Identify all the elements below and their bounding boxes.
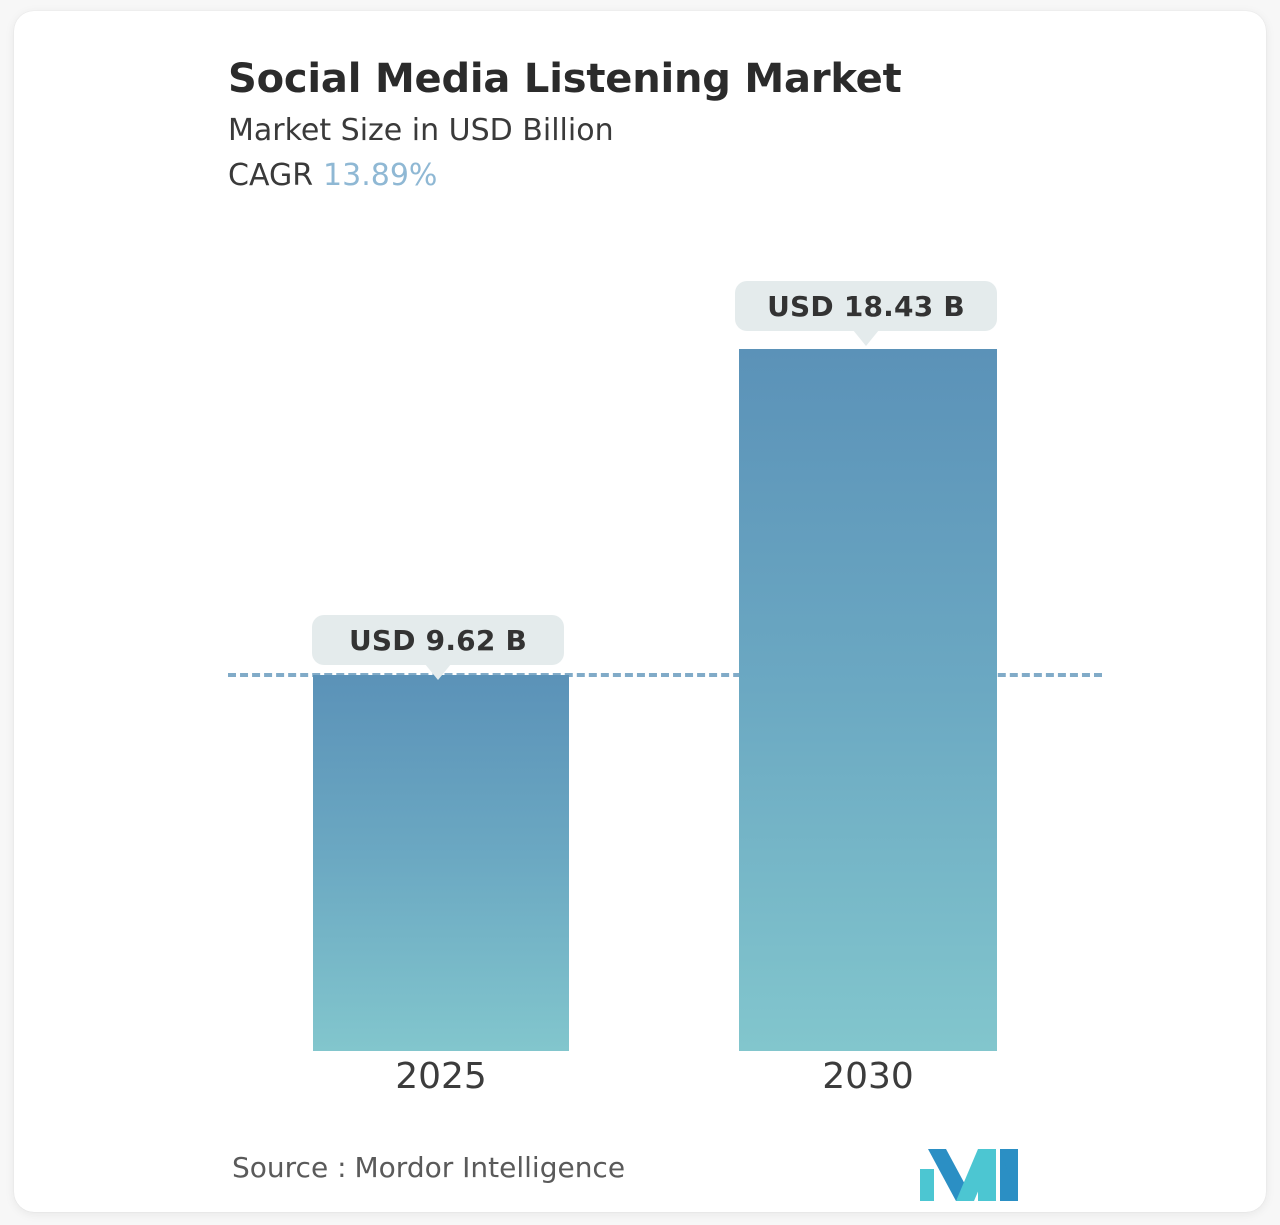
source-label: Source : xyxy=(232,1151,347,1184)
chart-card: Social Media Listening Market Market Siz… xyxy=(14,11,1266,1212)
data-label-2025-text: USD 9.62 B xyxy=(349,624,527,657)
bar-2025[interactable] xyxy=(313,675,569,1051)
bar-2030[interactable] xyxy=(739,349,997,1051)
x-axis-label-2030: 2030 xyxy=(739,1056,997,1097)
data-label-2030: USD 18.43 B xyxy=(735,281,997,331)
mordor-intelligence-logo-icon xyxy=(918,1143,1028,1209)
tooltip-pointer-icon xyxy=(425,664,451,680)
bar-chart-plot: USD 9.62 B USD 18.43 B 2025 2030 xyxy=(14,11,1266,1212)
x-axis-label-2025: 2025 xyxy=(313,1056,569,1097)
source-attribution: Source :Mordor Intelligence xyxy=(232,1151,625,1184)
tooltip-pointer-icon xyxy=(853,330,879,346)
source-value: Mordor Intelligence xyxy=(355,1151,626,1184)
bar-2030-fill xyxy=(739,349,997,1051)
data-label-2030-text: USD 18.43 B xyxy=(767,290,965,323)
bar-2025-fill xyxy=(313,675,569,1051)
data-label-2025: USD 9.62 B xyxy=(312,615,564,665)
